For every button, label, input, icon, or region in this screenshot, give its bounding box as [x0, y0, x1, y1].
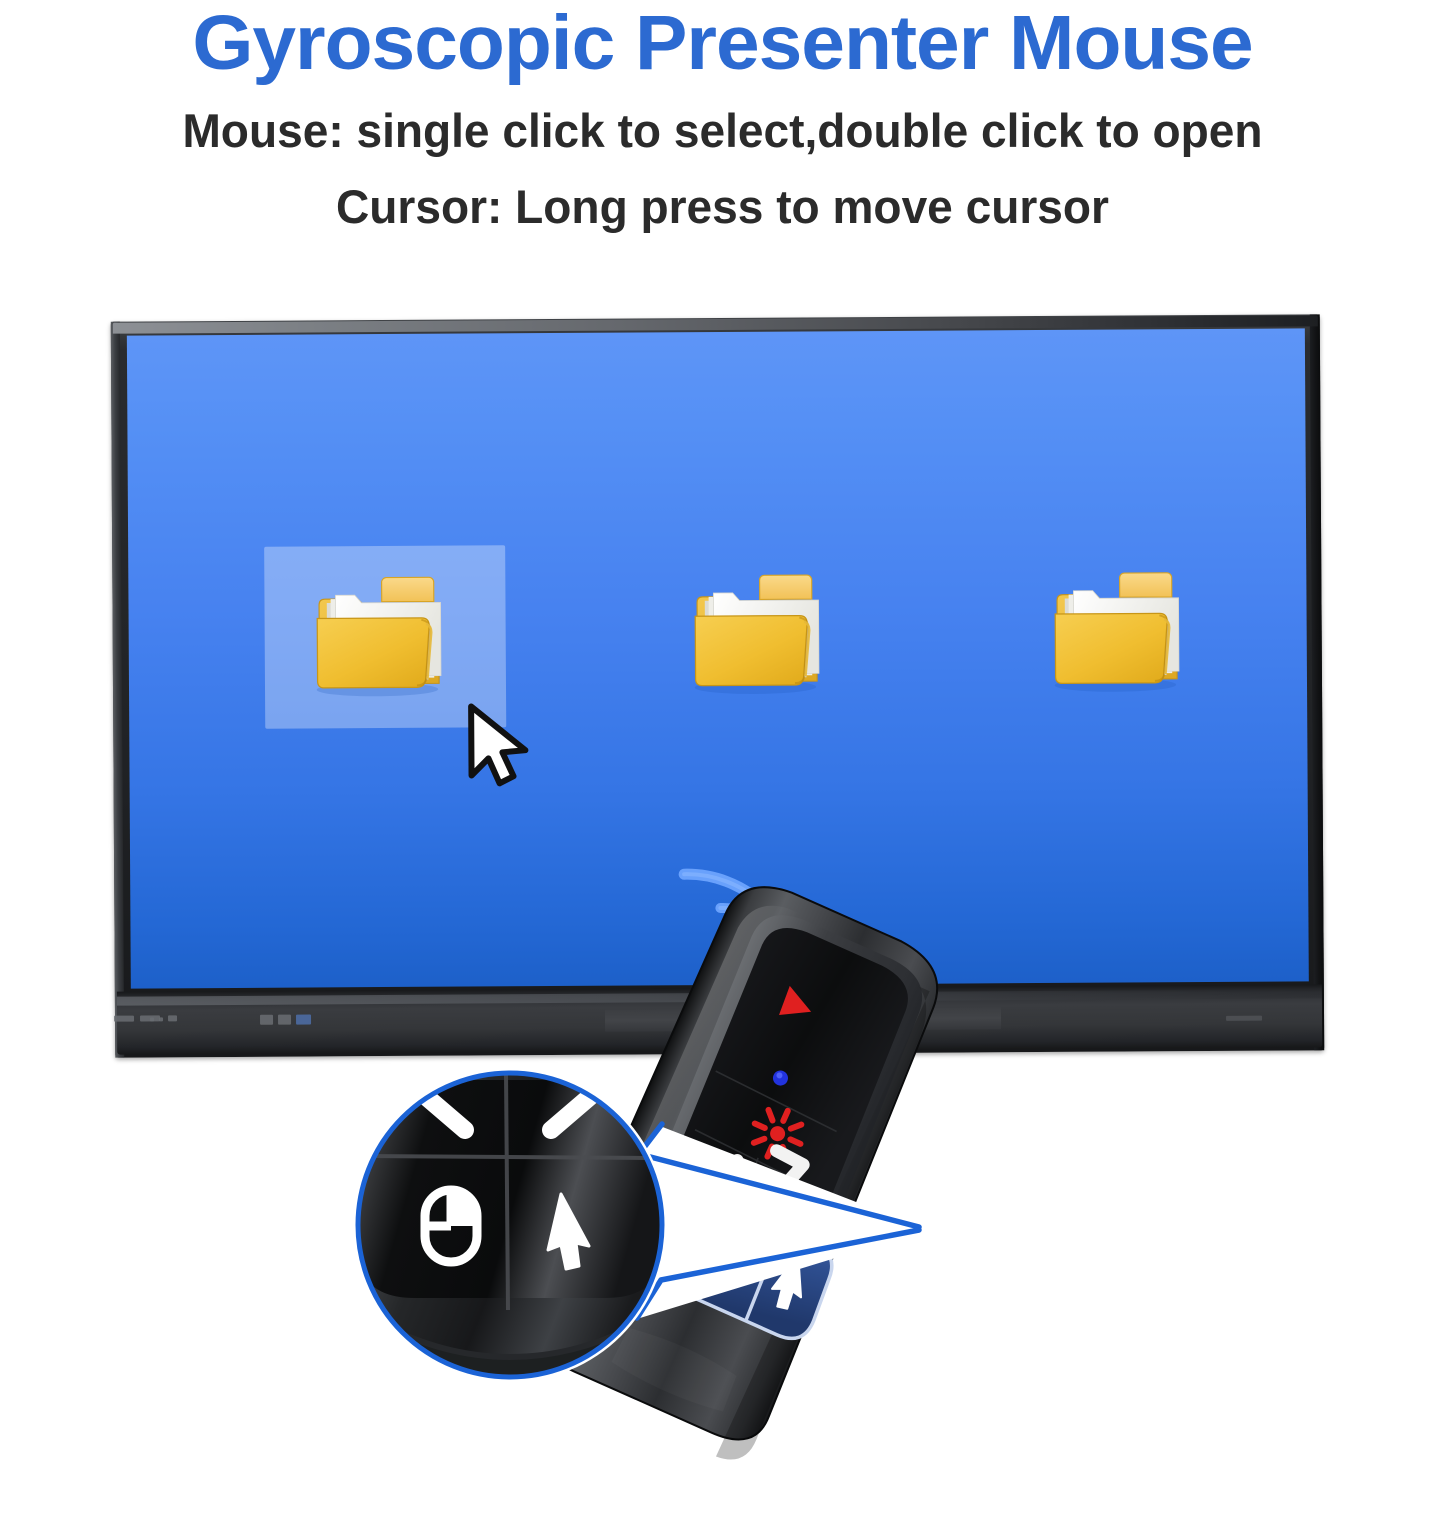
page-title: Gyroscopic Presenter Mouse — [0, 0, 1445, 86]
desktop-folder-icon[interactable] — [1035, 561, 1191, 697]
desktop-folder-icon[interactable] — [297, 566, 453, 702]
mouse-pointer-icon — [465, 703, 538, 791]
port-labels-mid — [260, 1014, 311, 1024]
header-block: Gyroscopic Presenter Mouse Mouse: single… — [0, 0, 1445, 244]
desktop-folder-icon[interactable] — [675, 563, 831, 699]
port-labels-left — [150, 1015, 177, 1021]
subtitle-line-cursor: Cursor: Long press to move cursor — [14, 170, 1430, 244]
brand-mark — [1226, 1016, 1262, 1021]
button-closeup-inset — [345, 1060, 675, 1390]
subtitle-line-mouse: Mouse: single click to select,double cli… — [14, 94, 1430, 168]
